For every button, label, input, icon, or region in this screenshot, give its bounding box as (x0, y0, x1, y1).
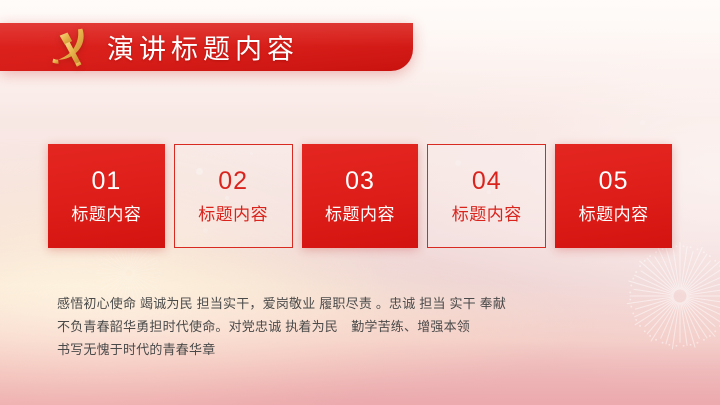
page-title: 演讲标题内容 (107, 28, 299, 67)
body-line: 感悟初心使命 竭诚为民 担当实干，爱岗敬业 履职尽责 。忠诚 担当 实干 奉献 (57, 292, 677, 315)
card-number: 04 (472, 169, 502, 194)
card-number: 01 (91, 169, 121, 194)
body-line: 不负青春韶华勇担时代使命。对党忠诚 执着为民 勤学苦练、增强本领 (57, 315, 677, 338)
numbered-cards-row: 01 标题内容 02 标题内容 03 标题内容 04 标题内容 05 标题内容 (48, 144, 672, 248)
card-item-02[interactable]: 02 标题内容 (174, 144, 293, 248)
body-paragraph: 感悟初心使命 竭诚为民 担当实干，爱岗敬业 履职尽责 。忠诚 担当 实干 奉献 … (57, 292, 677, 361)
card-item-05[interactable]: 05 标题内容 (555, 144, 672, 248)
title-banner: 演讲标题内容 (0, 23, 413, 71)
hammer-and-sickle-icon (46, 22, 96, 72)
card-item-03[interactable]: 03 标题内容 (302, 144, 419, 248)
card-label: 标题内容 (452, 206, 522, 223)
card-number: 02 (218, 169, 248, 194)
card-number: 05 (599, 169, 629, 194)
card-label: 标题内容 (198, 206, 268, 223)
card-number: 03 (345, 169, 375, 194)
card-label: 标题内容 (579, 206, 649, 223)
body-line: 书写无愧于时代的青春华章 (57, 338, 677, 361)
card-item-04[interactable]: 04 标题内容 (427, 144, 546, 248)
card-label: 标题内容 (71, 206, 141, 223)
card-label: 标题内容 (325, 206, 395, 223)
card-item-01[interactable]: 01 标题内容 (48, 144, 165, 248)
slide-canvas: 演讲标题内容 01 标题内容 02 标题内容 03 标题内容 04 标题内容 0… (0, 0, 720, 405)
